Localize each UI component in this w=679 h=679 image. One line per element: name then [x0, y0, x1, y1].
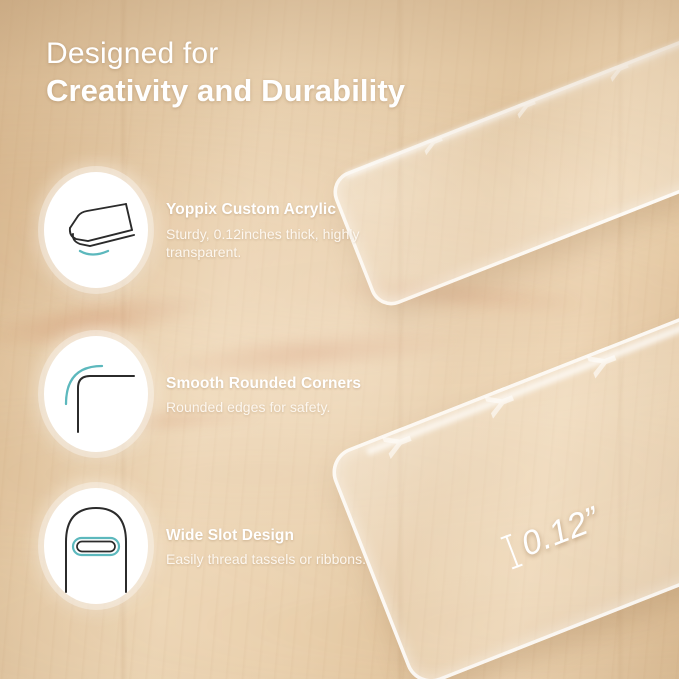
rounded-corner-icon: [56, 352, 136, 436]
feature-icon-badge: [44, 172, 148, 288]
acrylic-sheet-3d-icon: [56, 194, 136, 266]
wide-slot-tag-icon: [54, 498, 138, 594]
feature-text: Smooth Rounded Corners Rounded edges for…: [166, 372, 361, 417]
feature-title: Wide Slot Design: [166, 526, 366, 545]
feature-text: Yoppix Custom Acrylic Sturdy, 0.12inches…: [166, 198, 381, 262]
headline-line-2: Creativity and Durability: [46, 71, 405, 111]
feature-description: Rounded edges for safety.: [166, 398, 361, 417]
feature-row-rounded-corners: Smooth Rounded Corners Rounded edges for…: [44, 336, 361, 452]
feature-title: Yoppix Custom Acrylic: [166, 200, 381, 219]
feature-icon-badge: [44, 488, 148, 604]
feature-title: Smooth Rounded Corners: [166, 374, 361, 393]
feature-row-acrylic: Yoppix Custom Acrylic Sturdy, 0.12inches…: [44, 172, 381, 288]
feature-row-wide-slot: Wide Slot Design Easily thread tassels o…: [44, 488, 366, 604]
feature-description: Easily thread tassels or ribbons.: [166, 550, 366, 569]
feature-description: Sturdy, 0.12inches thick, highly transpa…: [166, 225, 381, 262]
headline-line-1: Designed for: [46, 36, 405, 71]
headline: Designed for Creativity and Durability: [46, 36, 405, 112]
feature-text: Wide Slot Design Easily thread tassels o…: [166, 524, 366, 569]
feature-icon-badge: [44, 336, 148, 452]
